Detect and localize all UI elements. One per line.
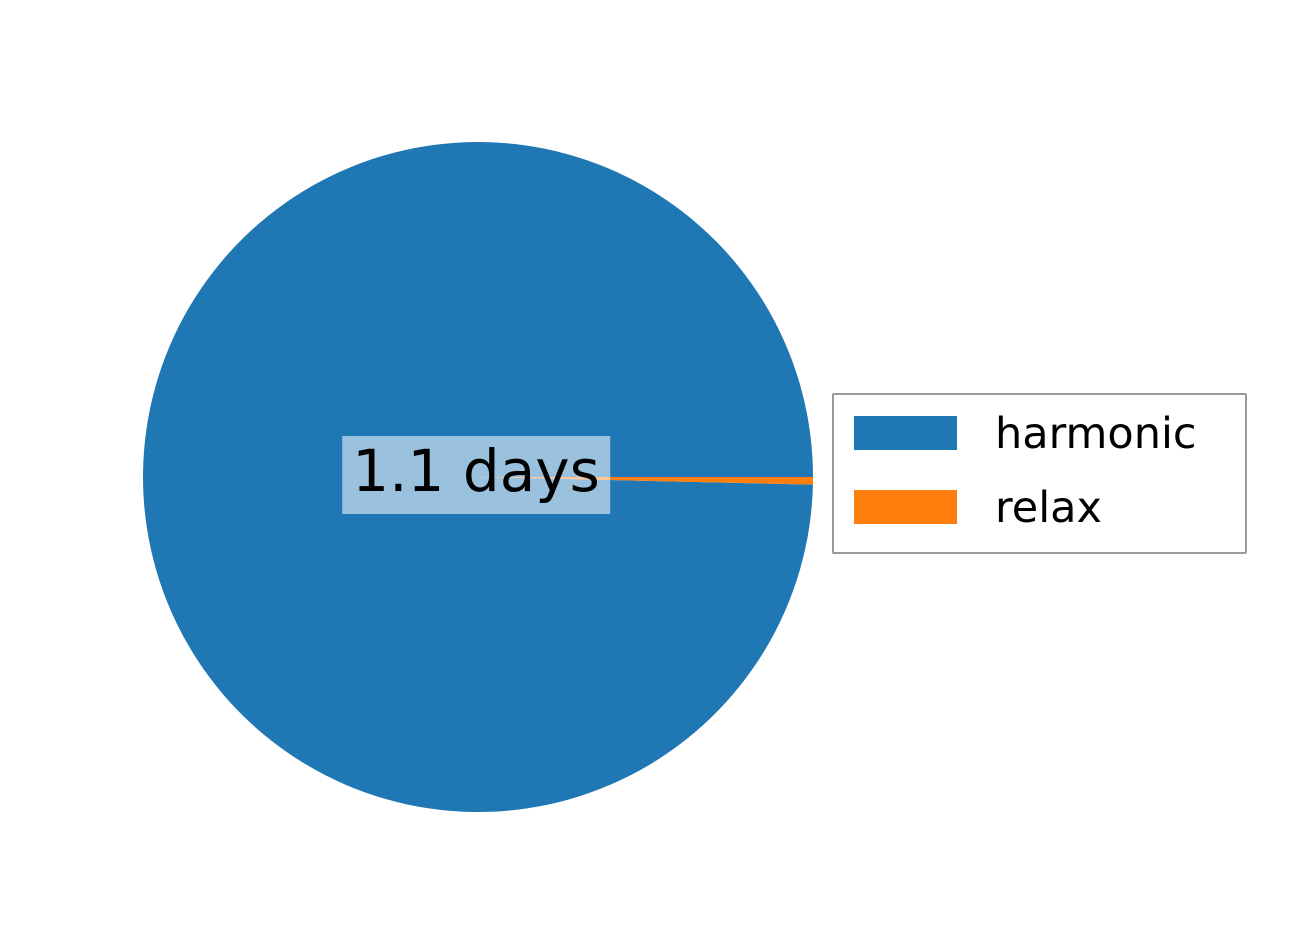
legend-box: harmonic relax [832,393,1247,554]
figure-canvas: 1.1 days harmonic relax [0,0,1307,951]
legend-label-relax: relax [995,487,1102,530]
legend-label-harmonic: harmonic [995,413,1197,456]
legend-color-swatch-relax [854,490,957,524]
legend-entry-relax[interactable]: relax [854,490,1102,524]
legend-entry-harmonic[interactable]: harmonic [854,416,1197,450]
legend-color-swatch-harmonic [854,416,957,450]
pie-wedge-label-harmonic: 1.1 days [342,436,610,514]
